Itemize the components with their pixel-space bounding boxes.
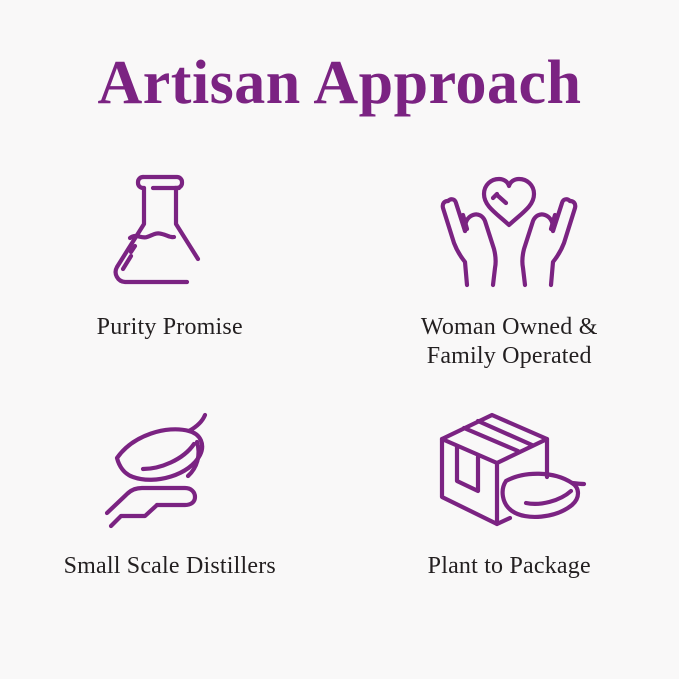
artisan-approach-panel: Artisan Approach [0,0,679,679]
flask-leaf-icon [95,160,245,295]
feature-label: Woman Owned & Family Operated [421,313,598,371]
hand-holding-leaf-icon [95,410,245,530]
feature-label: Plant to Package [428,552,591,581]
page-title: Artisan Approach [0,48,679,118]
feature-label: Small Scale Distillers [64,552,276,581]
feature-item-purity-promise[interactable]: Purity Promise [0,150,340,400]
hands-holding-heart-icon [434,160,584,295]
feature-item-plant-to-package[interactable]: Plant to Package [340,400,679,650]
feature-label: Purity Promise [97,313,243,342]
feature-item-woman-owned[interactable]: Woman Owned & Family Operated [340,150,679,400]
feature-grid: Purity Promise [0,150,679,650]
feature-item-small-scale-distillers[interactable]: Small Scale Distillers [0,400,340,650]
box-with-leaf-icon [434,410,584,530]
